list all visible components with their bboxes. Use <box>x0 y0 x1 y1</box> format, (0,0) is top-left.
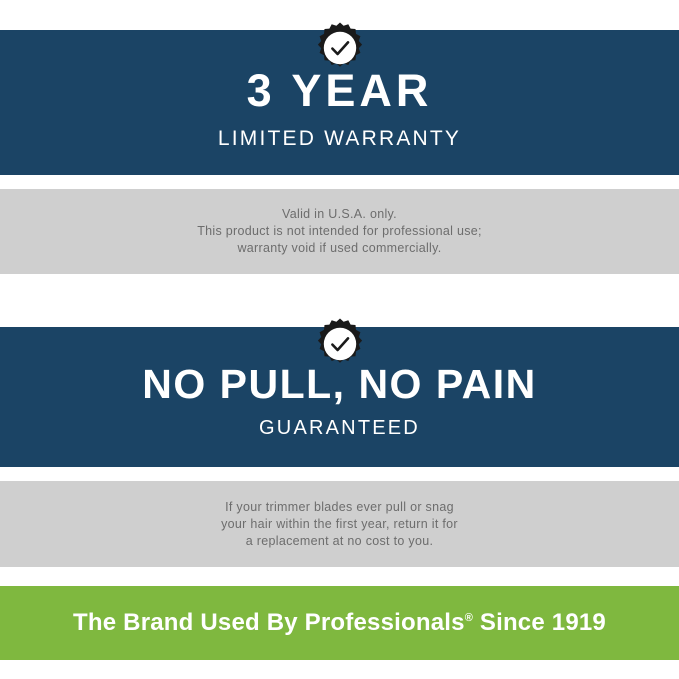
brand-footer-text-year: Since 1919 <box>473 609 606 636</box>
guarantee-fine-print: If your trimmer blades ever pull or snag… <box>0 481 679 567</box>
fine-print-line: Valid in U.S.A. only. <box>282 206 397 223</box>
fine-print-line: a replacement at no cost to you. <box>246 533 433 550</box>
fine-print-line: warranty void if used commercially. <box>237 240 441 257</box>
brand-footer-banner: The Brand Used By Professionals® Since 1… <box>0 586 679 660</box>
guarantee-subhead: GUARANTEED <box>259 417 420 440</box>
fine-print-line: This product is not intended for profess… <box>197 223 482 240</box>
brand-footer-text-main: The Brand Used By Professionals <box>73 609 465 636</box>
check-seal-icon <box>314 22 366 74</box>
warranty-headline: 3 YEAR <box>247 68 433 113</box>
fine-print-line: your hair within the first year, return … <box>221 516 458 533</box>
warranty-fine-print: Valid in U.S.A. only. This product is no… <box>0 189 679 274</box>
brand-footer-text: The Brand Used By Professionals® Since 1… <box>73 609 606 637</box>
warranty-info-graphic: 3 YEAR LIMITED WARRANTY Valid in U.S.A. … <box>0 0 679 679</box>
warranty-subhead: LIMITED WARRANTY <box>218 127 461 151</box>
check-seal-icon <box>314 318 366 370</box>
registered-mark: ® <box>465 612 473 624</box>
fine-print-line: If your trimmer blades ever pull or snag <box>225 499 454 516</box>
guarantee-headline: NO PULL, NO PAIN <box>142 364 537 405</box>
